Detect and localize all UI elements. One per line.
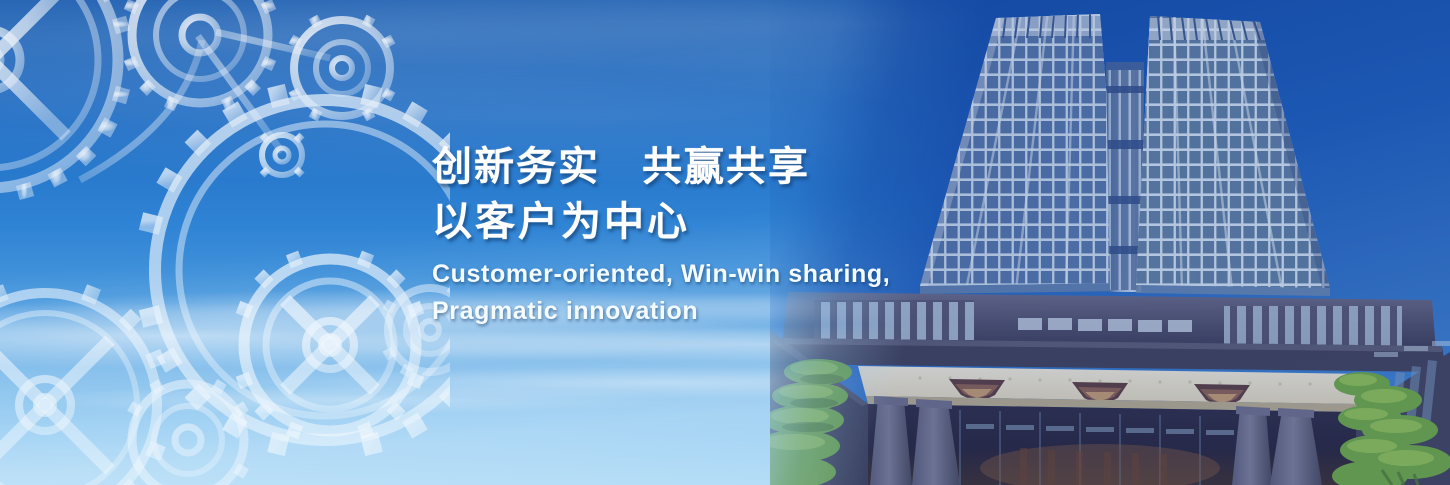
slogan-block: 创新务实 共赢共享 以客户为中心 Customer-oriented, Win-… — [432, 140, 992, 330]
gears-decoration — [0, 0, 450, 485]
hero-banner: 创新务实 共赢共享 以客户为中心 Customer-oriented, Win-… — [0, 0, 1450, 485]
headline-chinese-line-1: 创新务实 共赢共享 — [432, 140, 992, 195]
subtitle-english-line-2: Pragmatic innovation — [432, 293, 992, 330]
headline-chinese-line-2: 以客户为中心 — [432, 195, 992, 250]
gear-icon — [0, 277, 173, 485]
subtitle-english-line-1: Customer-oriented, Win-win sharing, — [432, 256, 992, 293]
gear-icon — [0, 0, 133, 203]
